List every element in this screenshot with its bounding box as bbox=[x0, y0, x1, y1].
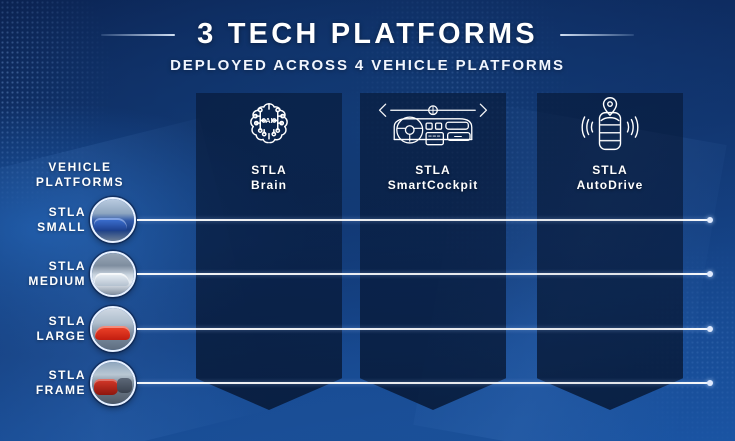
vehicle-platform-label-large: STLALARGE bbox=[8, 314, 86, 344]
vehicle-platforms-axis-title: VEHICLEPLATFORMS bbox=[4, 160, 156, 190]
table-row[interactable]: STLASMALL bbox=[0, 192, 735, 248]
tech-platform-autodrive[interactable]: STLAAutoDrive bbox=[525, 96, 695, 192]
autonomous-car-sensor-icon bbox=[525, 96, 695, 152]
tech-platform-label-autodrive: STLAAutoDrive bbox=[525, 163, 695, 192]
tech-platform-label-smartcockpit: STLASmartCockpit bbox=[348, 163, 518, 192]
vehicle-platform-label-small: STLASMALL bbox=[8, 205, 86, 235]
avatar[interactable] bbox=[90, 360, 136, 406]
table-row[interactable]: STLAFRAME bbox=[0, 355, 735, 411]
connector-line-frame bbox=[137, 382, 711, 384]
tech-platform-smartcockpit[interactable]: STLASmartCockpit bbox=[348, 96, 518, 192]
connector-line-medium bbox=[137, 273, 711, 275]
table-row[interactable]: STLAMEDIUM bbox=[0, 246, 735, 302]
tech-platform-brain[interactable]: AI STLABrain bbox=[184, 96, 354, 192]
vehicle-platform-label-frame: STLAFRAME bbox=[8, 368, 86, 398]
brain-ai-icon: AI bbox=[184, 96, 354, 152]
avatar[interactable] bbox=[90, 251, 136, 297]
infographic-canvas: 3 TECH PLATFORMS DEPLOYED ACROSS 4 VEHIC… bbox=[0, 0, 735, 441]
connector-line-small bbox=[137, 219, 711, 221]
vehicle-photo-medium bbox=[92, 253, 134, 295]
avatar[interactable] bbox=[90, 197, 136, 243]
connector-line-large bbox=[137, 328, 711, 330]
table-row[interactable]: STLALARGE bbox=[0, 301, 735, 357]
avatar[interactable] bbox=[90, 306, 136, 352]
vehicle-photo-small bbox=[92, 199, 134, 241]
vehicle-platform-label-medium: STLAMEDIUM bbox=[8, 259, 86, 289]
vehicle-photo-large bbox=[92, 308, 134, 350]
dashboard-cockpit-icon bbox=[348, 96, 518, 152]
tech-platform-label-brain: STLABrain bbox=[184, 163, 354, 192]
svg-text:AI: AI bbox=[265, 116, 272, 125]
vehicle-photo-frame bbox=[92, 362, 134, 404]
